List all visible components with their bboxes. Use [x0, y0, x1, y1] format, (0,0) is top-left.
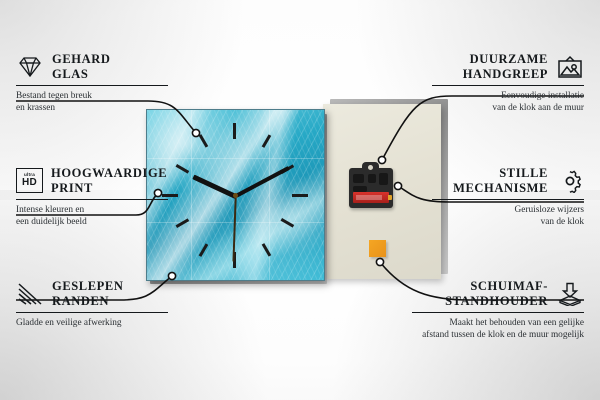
feature-hoogwaardige-print-title: HOOGWAARDIGE PRINT [51, 166, 167, 196]
feature-hoogwaardige-print-rule [16, 199, 168, 200]
feature-duurzame-handgreep-head: DUURZAME HANDGREEP [432, 52, 584, 82]
feature-schuimaf-standhouder-head: SCHUIMAF- STANDHOUDER [412, 279, 584, 309]
connector-endpoint-schuimaf-standhouder [376, 258, 383, 265]
bevelled-edges-icon [16, 282, 44, 306]
feature-hoogwaardige-print[interactable]: ultra HD HOOGWAARDIGE PRINT Intense kleu… [16, 166, 168, 228]
feature-stille-mechanisme-rule [432, 199, 584, 200]
feature-schuimaf-standhouder-desc-1: Maakt het behouden van een gelijke [412, 317, 584, 329]
feature-gehard-glas-head: GEHARD GLAS [16, 52, 168, 82]
feature-gehard-glas-desc-2: en krassen [16, 102, 168, 114]
feature-stille-mechanisme-desc-2: van de klok [432, 216, 584, 228]
feature-schuimaf-standhouder[interactable]: SCHUIMAF- STANDHOUDER Maakt het behouden… [412, 279, 584, 341]
feature-stille-mechanisme-desc-1: Geruisloze wijzers [432, 204, 584, 216]
feature-geslepen-randen-title: GESLEPEN RANDEN [52, 279, 124, 309]
feature-duurzame-handgreep-desc-2: van de klok aan de muur [432, 102, 584, 114]
feature-stille-mechanisme-head: STILLE MECHANISME [432, 166, 584, 196]
infographic-canvas: GEHARD GLAS Bestand tegen breuk en krass… [0, 0, 600, 400]
feature-stille-mechanisme[interactable]: STILLE MECHANISME Geruisloze wijzers van… [432, 166, 584, 228]
gear-icon [556, 169, 584, 193]
diamond-icon [16, 55, 44, 79]
feature-geslepen-randen-head: GESLEPEN RANDEN [16, 279, 168, 309]
ultra-hd-icon: ultra HD [16, 168, 43, 193]
connector-endpoint-duurzame-handgreep [378, 156, 385, 163]
feature-geslepen-randen-rule [16, 312, 168, 313]
feature-gehard-glas[interactable]: GEHARD GLAS Bestand tegen breuk en krass… [16, 52, 168, 114]
feature-duurzame-handgreep-title: DUURZAME HANDGREEP [463, 52, 548, 82]
picture-frame-icon [556, 55, 584, 79]
feature-schuimaf-standhouder-title: SCHUIMAF- STANDHOUDER [445, 279, 548, 309]
feature-schuimaf-standhouder-rule [412, 312, 584, 313]
ultra-hd-icon-main-text: HD [22, 178, 37, 188]
connector-endpoint-stille-mechanisme [394, 182, 401, 189]
feature-duurzame-handgreep[interactable]: DUURZAME HANDGREEP Eenvoudige installati… [432, 52, 584, 114]
connector-endpoint-geslepen-randen [168, 272, 175, 279]
feature-duurzame-handgreep-rule [432, 85, 584, 86]
feature-hoogwaardige-print-desc-1: Intense kleuren en [16, 204, 168, 216]
feature-geslepen-randen[interactable]: GESLEPEN RANDEN Gladde en veilige afwerk… [16, 279, 168, 329]
feature-gehard-glas-rule [16, 85, 168, 86]
feature-stille-mechanisme-title: STILLE MECHANISME [453, 166, 548, 196]
connector-endpoint-gehard-glas [192, 129, 199, 136]
feature-gehard-glas-title: GEHARD GLAS [52, 52, 110, 82]
feature-gehard-glas-desc-1: Bestand tegen breuk [16, 90, 168, 102]
feature-duurzame-handgreep-desc-1: Eenvoudige installatie [432, 90, 584, 102]
press-down-pad-icon [556, 282, 584, 306]
feature-geslepen-randen-desc-1: Gladde en veilige afwerking [16, 317, 168, 329]
feature-hoogwaardige-print-desc-2: een duidelijk beeld [16, 216, 168, 228]
feature-hoogwaardige-print-head: ultra HD HOOGWAARDIGE PRINT [16, 166, 168, 196]
feature-schuimaf-standhouder-desc-2: afstand tussen de klok en de muur mogeli… [412, 329, 584, 341]
